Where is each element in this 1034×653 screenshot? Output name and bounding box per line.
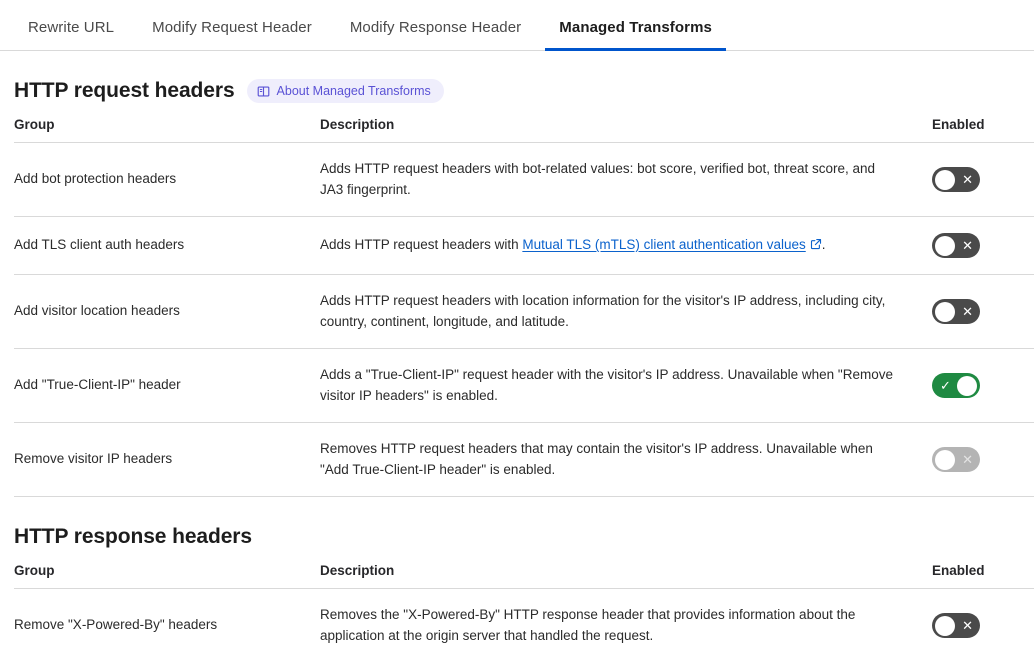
table-header-row: Group Description Enabled <box>14 563 1034 589</box>
description-prefix: Adds HTTP request headers with <box>320 237 522 252</box>
row-description: Adds HTTP request headers with Mutual TL… <box>320 217 932 275</box>
mtls-client-auth-link[interactable]: Mutual TLS (mTLS) client authentication … <box>522 237 805 252</box>
close-icon: ✕ <box>962 613 973 638</box>
row-enabled-cell: ✓ <box>932 349 1034 423</box>
row-description: Removes HTTP request headers that may co… <box>320 423 932 497</box>
tab-bar: Rewrite URL Modify Request Header Modify… <box>0 0 1034 51</box>
response-headers-table: Group Description Enabled Remove "X-Powe… <box>14 563 1034 653</box>
toggle-add-visitor-location-headers[interactable]: ✕ <box>932 299 980 324</box>
row-enabled-cell: ✕ <box>932 217 1034 275</box>
toggle-knob <box>957 376 977 396</box>
table-row: Remove "X-Powered-By" headers Removes th… <box>14 589 1034 653</box>
column-header-enabled: Enabled <box>932 563 1034 589</box>
toggle-knob <box>935 236 955 256</box>
toggle-remove-visitor-ip-headers: ✕ <box>932 447 980 472</box>
toggle-knob <box>935 450 955 470</box>
table-row: Add bot protection headers Adds HTTP req… <box>14 143 1034 217</box>
book-icon <box>257 85 270 98</box>
close-icon: ✕ <box>962 233 973 258</box>
column-header-enabled: Enabled <box>932 117 1034 143</box>
external-link-icon <box>810 236 822 257</box>
row-group-label: Add bot protection headers <box>14 143 320 217</box>
tab-managed-transforms[interactable]: Managed Transforms <box>545 20 726 50</box>
row-group-label: Add TLS client auth headers <box>14 217 320 275</box>
row-description: Removes the "X-Powered-By" HTTP response… <box>320 589 932 653</box>
check-icon: ✓ <box>940 373 951 398</box>
row-description: Adds HTTP request headers with location … <box>320 275 932 349</box>
http-request-headers-section: HTTP request headers About Managed Trans… <box>0 51 1034 497</box>
column-header-group: Group <box>14 563 320 589</box>
request-section-title: HTTP request headers <box>14 79 235 103</box>
toggle-knob <box>935 302 955 322</box>
tab-modify-request-header[interactable]: Modify Request Header <box>138 20 326 50</box>
row-group-label: Add "True-Client-IP" header <box>14 349 320 423</box>
row-group-label: Remove "X-Powered-By" headers <box>14 589 320 653</box>
toggle-add-tls-client-auth-headers[interactable]: ✕ <box>932 233 980 258</box>
close-icon: ✕ <box>962 447 973 472</box>
row-group-label: Add visitor location headers <box>14 275 320 349</box>
toggle-knob <box>935 170 955 190</box>
table-header-row: Group Description Enabled <box>14 117 1034 143</box>
close-icon: ✕ <box>962 167 973 192</box>
table-row: Remove visitor IP headers Removes HTTP r… <box>14 423 1034 497</box>
row-group-label: Remove visitor IP headers <box>14 423 320 497</box>
row-description: Adds HTTP request headers with bot-relat… <box>320 143 932 217</box>
toggle-add-bot-protection-headers[interactable]: ✕ <box>932 167 980 192</box>
response-section-header: HTTP response headers <box>14 497 1020 563</box>
column-header-description: Description <box>320 117 932 143</box>
column-header-description: Description <box>320 563 932 589</box>
http-response-headers-section: HTTP response headers Group Description … <box>0 497 1034 653</box>
description-suffix: . <box>822 237 826 252</box>
tab-modify-response-header[interactable]: Modify Response Header <box>336 20 535 50</box>
toggle-add-true-client-ip-header[interactable]: ✓ <box>932 373 980 398</box>
table-row: Add TLS client auth headers Adds HTTP re… <box>14 217 1034 275</box>
table-row: Add visitor location headers Adds HTTP r… <box>14 275 1034 349</box>
table-row: Add "True-Client-IP" header Adds a "True… <box>14 349 1034 423</box>
row-enabled-cell: ✕ <box>932 423 1034 497</box>
request-headers-table: Group Description Enabled Add bot protec… <box>14 117 1034 497</box>
row-enabled-cell: ✕ <box>932 143 1034 217</box>
toggle-remove-x-powered-by-headers[interactable]: ✕ <box>932 613 980 638</box>
row-enabled-cell: ✕ <box>932 589 1034 653</box>
about-managed-transforms-badge[interactable]: About Managed Transforms <box>247 79 444 103</box>
response-section-title: HTTP response headers <box>14 525 252 549</box>
about-managed-transforms-label: About Managed Transforms <box>277 84 431 98</box>
row-description: Adds a "True-Client-IP" request header w… <box>320 349 932 423</box>
toggle-knob <box>935 616 955 636</box>
tab-rewrite-url[interactable]: Rewrite URL <box>14 20 128 50</box>
request-section-header: HTTP request headers About Managed Trans… <box>14 51 1020 117</box>
close-icon: ✕ <box>962 299 973 324</box>
column-header-group: Group <box>14 117 320 143</box>
row-enabled-cell: ✕ <box>932 275 1034 349</box>
